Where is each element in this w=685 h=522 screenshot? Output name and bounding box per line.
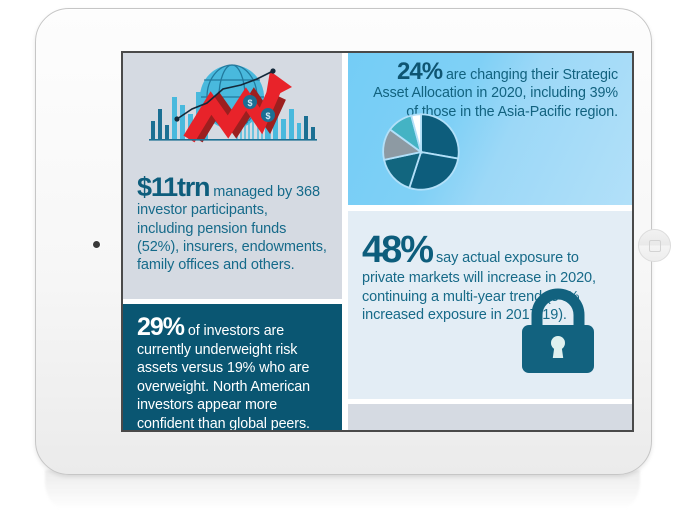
panel-underweight: 29% of investors are currently underweig… (123, 304, 342, 430)
panel-aum: $ $ $11trn managed by 368 investor parti… (123, 53, 342, 299)
home-square-icon (649, 240, 661, 252)
home-button[interactable] (638, 229, 671, 262)
panel-footer-strip (348, 404, 632, 430)
tablet-reflection (45, 470, 640, 516)
padlock-icon (518, 287, 598, 375)
panel-exposure: 48% say actual exposure to private marke… (348, 211, 632, 399)
right-column: 24% are changing their Strategic Asset A… (348, 53, 632, 430)
tablet-screen: $ $ $11trn managed by 368 investor parti… (121, 51, 634, 432)
aum-headline: $11trn (137, 172, 209, 202)
svg-text:$: $ (265, 111, 270, 121)
aum-stat-block: $11trn managed by 368 investor participa… (137, 166, 328, 274)
exposure-headline: 48% (362, 229, 432, 271)
underweight-stat-block: 29% of investors are currently underweig… (137, 318, 328, 430)
underweight-headline: 29% (137, 313, 184, 341)
tablet-device: $ $ $11trn managed by 368 investor parti… (35, 8, 652, 475)
strategic-asset-allocation-pie (380, 111, 462, 193)
panel-saa: 24% are changing their Strategic Asset A… (348, 53, 632, 205)
svg-text:$: $ (247, 98, 252, 108)
camera-dot-icon (93, 241, 100, 248)
left-column: $ $ $11trn managed by 368 investor parti… (123, 53, 342, 430)
saa-headline: 24% (397, 58, 442, 85)
globe-growth-chart-illustration: $ $ (137, 59, 328, 164)
